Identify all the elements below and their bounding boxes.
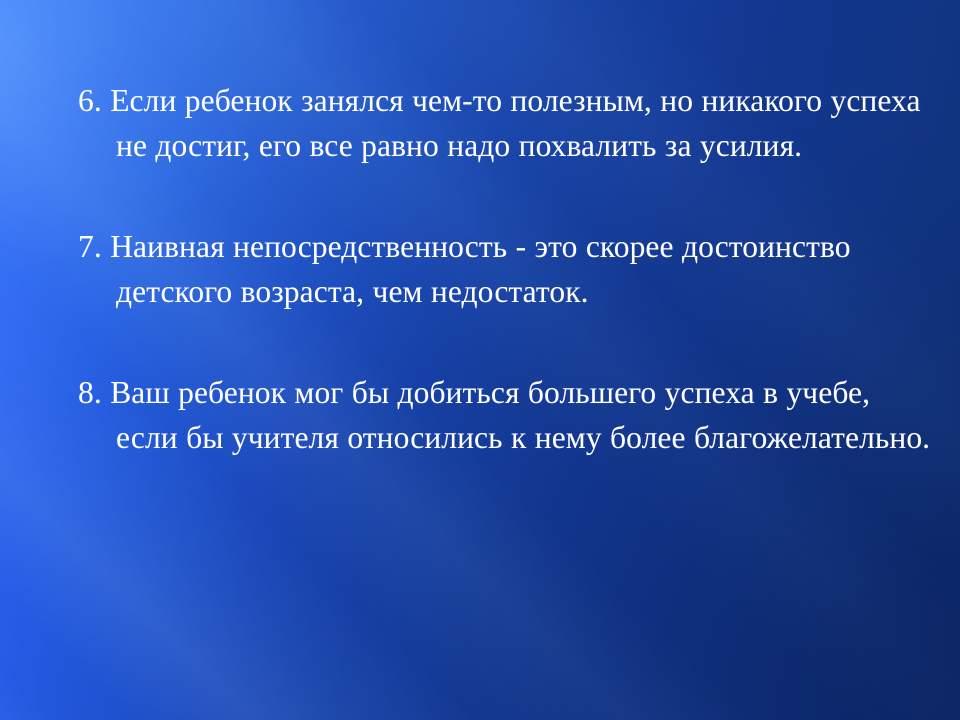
numbered-paragraph-7: 7. Наивная непосредственность - это скор… [78,224,934,314]
numbered-paragraph-6: 6. Если ребенок занялся чем-то полезным,… [78,78,934,168]
slide-body-content: 6. Если ребенок занялся чем-то полезным,… [78,46,934,491]
numbered-paragraph-8: 8. Ваш ребенок мог бы добиться большего … [78,370,934,460]
presentation-slide: 6. Если ребенок занялся чем-то полезным,… [0,0,960,720]
